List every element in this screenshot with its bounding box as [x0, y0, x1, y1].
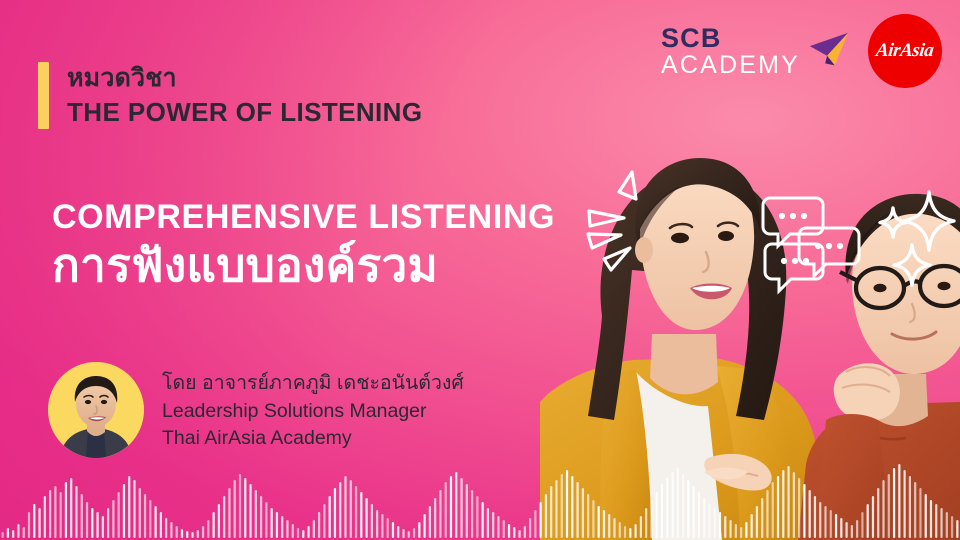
course-cover: SCB ACADEMY AirAsia หมวดวิชา THE POWER O… — [0, 0, 960, 540]
page-title: COMPREHENSIVE LISTENING การฟังแบบองค์รวม — [52, 198, 555, 292]
speaker-org: Thai AirAsia Academy — [162, 425, 464, 453]
title-english: COMPREHENSIVE LISTENING — [52, 198, 555, 237]
academy-logo-text: ACADEMY — [661, 53, 800, 78]
scb-academy-logo: SCB ACADEMY — [661, 25, 852, 78]
category-block: หมวดวิชา THE POWER OF LISTENING — [38, 62, 422, 129]
speaker-block: โดย อาจารย์ภาคภูมิ เดชะอนันต์วงศ์ Leader… — [48, 362, 464, 458]
photo-two-people-conversing — [540, 120, 960, 540]
category-label-th: หมวดวิชา — [67, 63, 422, 94]
avatar — [48, 362, 144, 458]
paper-plane-icon — [806, 27, 852, 73]
speaker-name: โดย อาจารย์ภาคภูมิ เดชะอนันต์วงศ์ — [162, 370, 464, 398]
airasia-logo-text: AirAsia — [875, 40, 935, 62]
speaker-role: Leadership Solutions Manager — [162, 398, 464, 426]
scb-logo-text: SCB — [661, 25, 800, 52]
title-thai: การฟังแบบองค์รวม — [52, 239, 555, 292]
yellow-accent-bar — [38, 62, 49, 129]
airasia-logo: AirAsia — [868, 14, 942, 88]
brand-logos: SCB ACADEMY AirAsia — [661, 14, 942, 88]
category-label-en: THE POWER OF LISTENING — [67, 96, 422, 129]
